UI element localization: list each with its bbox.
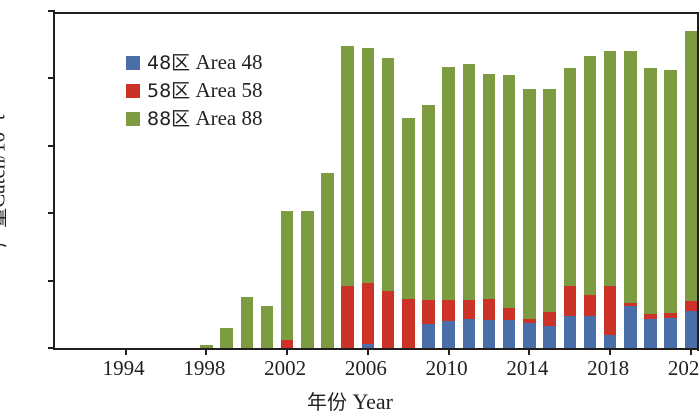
x-axis-tick-label: 2018 xyxy=(587,358,629,379)
legend-label: 48区 Area 48 xyxy=(147,52,263,73)
bar-segment-88-2013 xyxy=(503,75,516,308)
bar-2009 xyxy=(422,105,435,348)
x-axis-tick-label: 1998 xyxy=(183,358,225,379)
bar-segment-58-2013 xyxy=(503,308,516,321)
x-axis-tick xyxy=(448,348,450,355)
y-axis-tick xyxy=(48,145,55,147)
bar-segment-58-2018 xyxy=(604,286,617,335)
bar-segment-58-2012 xyxy=(483,299,496,319)
x-axis-tick xyxy=(528,348,530,355)
bar-segment-88-2000 xyxy=(241,297,254,348)
bar-1999 xyxy=(220,328,233,348)
bar-segment-88-1998 xyxy=(200,345,213,348)
bar-segment-88-2012 xyxy=(483,74,496,299)
y-axis-tick xyxy=(48,10,55,12)
y-axis-title: 产量Catch/103 t xyxy=(0,16,11,346)
y-axis-tick xyxy=(48,212,55,214)
legend-label-cn: 58区 xyxy=(147,80,190,102)
legend-swatch-area-88 xyxy=(126,112,140,126)
bar-2016 xyxy=(564,68,577,348)
bar-segment-58-2010 xyxy=(442,300,455,321)
bar-segment-58-2009 xyxy=(422,300,435,325)
bar-segment-88-1999 xyxy=(220,328,233,348)
bar-segment-48-2010 xyxy=(442,321,455,348)
bar-2020 xyxy=(644,68,657,348)
bar-2021 xyxy=(664,70,677,348)
bar-segment-48-2018 xyxy=(604,335,617,348)
legend-label: 58区 Area 58 xyxy=(147,80,263,101)
bar-segment-88-2014 xyxy=(523,89,536,320)
legend-swatch-area-58 xyxy=(126,84,140,98)
bar-segment-48-2016 xyxy=(564,316,577,348)
bar-segment-48-2015 xyxy=(543,326,556,348)
x-axis-title-cn: 年份 xyxy=(307,390,347,414)
bar-segment-58-2006 xyxy=(362,283,375,344)
bar-2015 xyxy=(543,89,556,348)
bar-segment-88-2010 xyxy=(442,67,455,300)
bar-segment-88-2018 xyxy=(604,51,617,286)
legend-item-area-48[interactable]: 48区 Area 48 xyxy=(126,52,263,73)
bar-segment-48-2009 xyxy=(422,324,435,348)
bar-1998 xyxy=(200,345,213,348)
bar-2004 xyxy=(321,173,334,348)
legend-label-cn: 48区 xyxy=(147,52,190,74)
x-axis-tick-label: 2014 xyxy=(506,358,548,379)
bar-segment-88-2015 xyxy=(543,89,556,313)
legend-swatch-area-48 xyxy=(126,56,140,70)
chart-figure: 产量Catch/103 t 年份 Year 012345 19941998200… xyxy=(0,0,700,417)
bar-segment-58-2007 xyxy=(382,291,395,348)
bar-segment-88-2003 xyxy=(301,211,314,348)
bar-segment-88-2019 xyxy=(624,51,637,303)
x-axis-tick-label: 2002 xyxy=(264,358,306,379)
bar-2014 xyxy=(523,89,536,348)
bar-2010 xyxy=(442,67,455,348)
bar-2001 xyxy=(261,306,274,348)
bar-segment-48-2014 xyxy=(523,323,536,348)
bar-2017 xyxy=(584,55,597,348)
bar-2005 xyxy=(341,46,354,348)
bar-segment-88-2007 xyxy=(382,58,395,291)
bar-segment-88-2005 xyxy=(341,46,354,286)
x-axis-title-en: Year xyxy=(352,389,393,414)
y-axis-title-unit: t xyxy=(0,114,10,125)
bar-segment-88-2016 xyxy=(564,68,577,286)
bar-segment-48-2012 xyxy=(483,320,496,348)
bar-segment-88-2020 xyxy=(644,68,657,314)
bar-segment-88-2008 xyxy=(402,118,415,300)
bar-segment-88-2021 xyxy=(664,70,677,313)
bar-segment-58-2005 xyxy=(341,286,354,348)
x-axis-tick-label: 2006 xyxy=(345,358,387,379)
bar-segment-88-2002 xyxy=(281,211,294,340)
x-axis-tick xyxy=(205,348,207,355)
y-axis-tick xyxy=(48,347,55,349)
bar-segment-58-2017 xyxy=(584,295,597,316)
legend-item-area-58[interactable]: 58区 Area 58 xyxy=(126,80,263,101)
bar-segment-58-2011 xyxy=(463,300,476,320)
bar-segment-88-2011 xyxy=(463,64,476,300)
x-axis-tick xyxy=(286,348,288,355)
bar-segment-48-2020 xyxy=(644,319,657,348)
legend-label: 88区 Area 88 xyxy=(147,108,263,129)
legend-label-cn: 88区 xyxy=(147,108,190,130)
bar-2011 xyxy=(463,64,476,348)
bar-segment-88-2022 xyxy=(685,31,698,301)
bar-2007 xyxy=(382,58,395,348)
x-axis-tick xyxy=(609,348,611,355)
x-axis-tick xyxy=(125,348,127,355)
bar-2022 xyxy=(685,31,698,348)
bar-segment-88-2009 xyxy=(422,105,435,299)
bar-segment-48-2006 xyxy=(362,344,375,348)
bar-2018 xyxy=(604,51,617,348)
y-axis-tick xyxy=(48,77,55,79)
bar-2000 xyxy=(241,297,254,348)
x-axis-tick xyxy=(690,348,692,355)
bar-segment-58-2002 xyxy=(281,340,294,348)
legend-label-en: Area 58 xyxy=(190,78,262,102)
bar-segment-48-2019 xyxy=(624,306,637,348)
bar-2008 xyxy=(402,118,415,349)
x-axis-tick-label: 2022 xyxy=(668,358,700,379)
bar-segment-48-2011 xyxy=(463,319,476,348)
y-axis-title-cn: 产量 xyxy=(0,208,10,248)
chart-legend: 48区 Area 4858区 Area 5888区 Area 88 xyxy=(126,52,263,129)
bar-segment-48-2022 xyxy=(685,311,698,348)
x-axis-tick xyxy=(367,348,369,355)
bar-segment-58-2022 xyxy=(685,301,698,311)
bar-segment-48-2013 xyxy=(503,320,516,348)
bar-segment-58-2015 xyxy=(543,312,556,325)
bar-segment-88-2006 xyxy=(362,48,375,283)
legend-label-en: Area 48 xyxy=(190,50,262,74)
bar-2012 xyxy=(483,74,496,348)
bar-segment-58-2008 xyxy=(402,299,415,348)
bar-segment-88-2004 xyxy=(321,173,334,348)
bar-segment-88-2001 xyxy=(261,306,274,348)
bar-2006 xyxy=(362,48,375,348)
bar-segment-48-2021 xyxy=(664,318,677,348)
x-axis-title: 年份 Year xyxy=(0,386,700,415)
y-axis-tick xyxy=(48,280,55,282)
bar-2013 xyxy=(503,75,516,348)
y-axis-title-en: Catch/10 xyxy=(0,132,10,208)
bar-2019 xyxy=(624,51,637,348)
legend-item-area-88[interactable]: 88区 Area 88 xyxy=(126,108,263,129)
bar-segment-58-2016 xyxy=(564,286,577,316)
x-axis-tick-label: 1994 xyxy=(103,358,145,379)
bar-2002 xyxy=(281,211,294,348)
bar-2003 xyxy=(301,211,314,348)
legend-label-en: Area 88 xyxy=(190,106,262,130)
bar-segment-88-2017 xyxy=(584,56,597,296)
bar-segment-48-2017 xyxy=(584,316,597,348)
x-axis-tick-label: 2010 xyxy=(426,358,468,379)
